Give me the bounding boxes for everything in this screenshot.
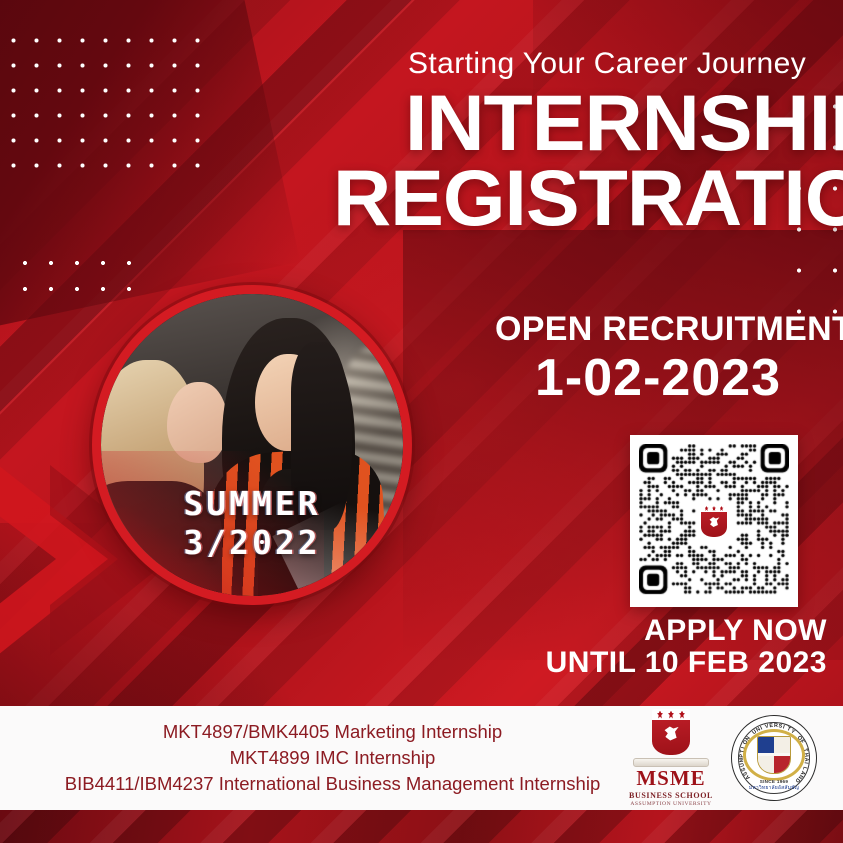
open-recruitment-label: OPEN RECRUITMENT [495,310,843,349]
phoenix-icon [661,723,681,743]
shield-quarter [774,737,790,754]
course-item: BIB4411/IBM4237 International Business M… [40,771,625,797]
dot-cluster-left [12,250,132,298]
apply-now-line2: UNTIL 10 FEB 2023 [0,647,827,679]
bottom-strip [0,810,843,843]
headline-registration: REGISTRATION [333,163,843,233]
qr-modules [639,444,789,598]
msme-name: MSME [625,768,717,789]
open-recruitment-date: 1-02-2023 [535,348,781,408]
crest-chief [652,709,690,720]
qr-code[interactable] [630,435,798,607]
footer-bar: MKT4897/BMK4405 Marketing Internship MKT… [0,706,843,810]
dot-grid-topleft [2,28,214,188]
seal-thai-text: มหาวิทยาลัยอัสสัมชัญ [749,784,799,792]
course-item: MKT4899 IMC Internship [40,745,625,771]
photo-caption-line2: 3/2022 [101,526,403,561]
student-photo-circle: SUMMER 3/2022 [92,285,412,605]
internship-registration-poster: Starting Your Career Journey INTERNSHIP … [0,0,843,843]
bottom-strip-stripes [0,810,843,843]
fleur-icon [679,711,685,719]
msme-subtitle: BUSINESS SCHOOL [625,791,717,800]
student-photo: SUMMER 3/2022 [101,294,403,596]
shield-quarter [758,737,774,754]
fleur-icon [657,711,663,719]
qr-center-crest-icon [694,498,734,544]
seal-shield [757,736,791,774]
photo-caption: SUMMER 3/2022 [101,487,403,561]
apply-now-text: APPLY NOW UNTIL 10 FEB 2023 [0,615,827,680]
shield-quarter [774,756,790,773]
tagline: Starting Your Career Journey [408,47,808,81]
course-list: MKT4897/BMK4405 Marketing Internship MKT… [0,719,625,798]
course-item: MKT4897/BMK4405 Marketing Internship [40,719,625,745]
msme-crest-icon [652,709,690,755]
photo-caption-line1: SUMMER [101,487,403,522]
fleur-icon [668,711,674,719]
shield-icon [757,736,791,774]
msme-university: ASSUMPTION UNIVERSITY [625,801,717,807]
assumption-university-seal-logo: ASSUMPTION UNIVERSITY OF THAILAND SINCE … [731,715,817,801]
footer-logos: MSME BUSINESS SCHOOL ASSUMPTION UNIVERSI… [625,709,843,807]
headline-internship: INTERNSHIP [405,88,843,158]
msme-business-school-logo: MSME BUSINESS SCHOOL ASSUMPTION UNIVERSI… [625,709,717,807]
apply-now-line1: APPLY NOW [0,615,827,647]
shield-quarter [758,756,774,773]
